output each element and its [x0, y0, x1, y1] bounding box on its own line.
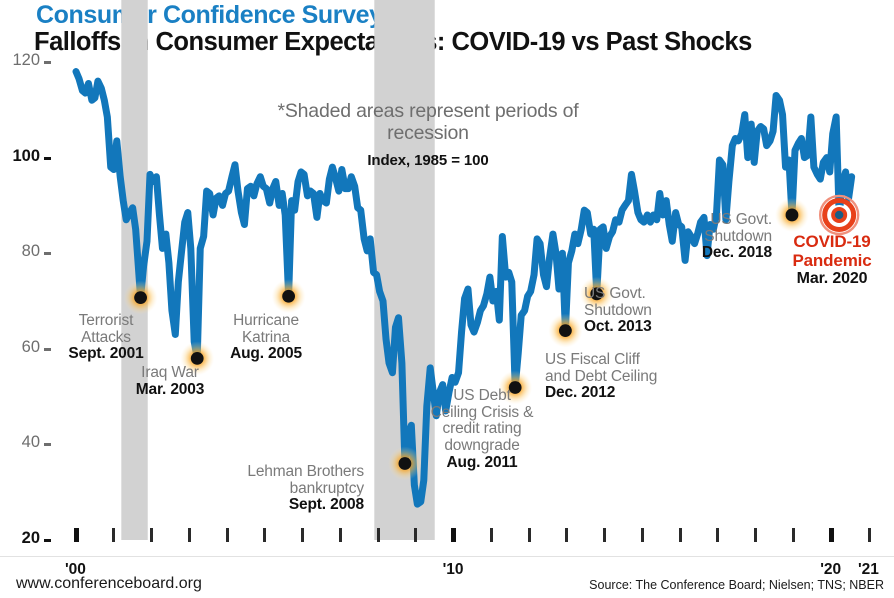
- x-axis-tick: [451, 528, 456, 542]
- y-axis-label: 60: [0, 338, 40, 357]
- annotation-iraq-war: Iraq WarMar. 2003: [110, 365, 230, 398]
- marker-us-fiscal-cliff: [548, 314, 582, 348]
- annotation-date: Sept. 2008: [212, 497, 364, 514]
- x-axis-tick: [716, 528, 719, 542]
- x-axis-label: '21: [858, 561, 879, 579]
- annotation-label: Lehman Brothers bankruptcy: [247, 463, 364, 497]
- marker-us-govt-shutdown-2018: [775, 198, 809, 232]
- x-axis-tick: [565, 528, 568, 542]
- source-note: Source: The Conference Board; Nielsen; T…: [589, 578, 884, 592]
- website-link[interactable]: www.conferenceboard.org: [16, 575, 202, 593]
- x-axis-tick: [679, 528, 682, 542]
- x-axis-tick: [74, 528, 79, 542]
- y-axis-label: 100: [0, 147, 40, 166]
- y-axis-tick: [44, 61, 51, 64]
- annotation-label: COVID-19 Pandemic: [792, 232, 871, 270]
- x-axis-tick: [829, 528, 834, 542]
- chart-svg: [0, 0, 894, 560]
- annotation-hurricane-katrina: Hurricane KatrinaAug. 2005: [202, 313, 330, 363]
- annotation-date: Sept. 2001: [46, 346, 166, 363]
- x-axis-tick: [301, 528, 304, 542]
- footer-divider: [0, 556, 894, 557]
- x-axis-tick: [112, 528, 115, 542]
- y-axis-tick: [44, 539, 51, 542]
- marker-covid-19-pandemic: [820, 196, 858, 234]
- index-note: Index, 1985 = 100: [268, 152, 588, 169]
- x-axis-label: '20: [820, 561, 841, 579]
- x-axis-tick: [188, 528, 191, 542]
- x-axis-tick: [263, 528, 266, 542]
- y-axis-label: 40: [0, 433, 40, 452]
- y-axis-label: 120: [0, 51, 40, 70]
- x-axis-tick: [150, 528, 153, 542]
- annotation-date: Mar. 2020: [778, 270, 886, 288]
- x-axis-tick: [490, 528, 493, 542]
- annotation-label: Terrorist Attacks: [79, 312, 134, 346]
- annotation-label: US Govt. Shutdown: [584, 285, 652, 319]
- x-axis-tick: [754, 528, 757, 542]
- x-axis-tick: [414, 528, 417, 542]
- chart-plot-area: 20406080100120'00'10'20'21 Terrorist Att…: [0, 0, 894, 560]
- annotation-date: Mar. 2003: [110, 382, 230, 399]
- annotation-date: Dec. 2012: [545, 385, 705, 402]
- x-axis-tick: [603, 528, 606, 542]
- annotation-terrorist-attacks: Terrorist AttacksSept. 2001: [46, 313, 166, 363]
- y-axis-label: 80: [0, 242, 40, 261]
- x-axis-tick: [792, 528, 795, 542]
- y-axis-tick: [44, 443, 51, 446]
- x-axis-tick: [641, 528, 644, 542]
- annotation-date: Aug. 2005: [202, 346, 330, 363]
- annotation-covid-19-pandemic: COVID-19 PandemicMar. 2020: [778, 233, 886, 288]
- annotation-us-fiscal-cliff: US Fiscal Cliff and Debt CeilingDec. 201…: [545, 352, 705, 402]
- annotation-label: US Fiscal Cliff and Debt Ceiling: [545, 351, 657, 385]
- marker-terrorist-attacks: [124, 281, 158, 315]
- annotation-label: Iraq War: [141, 364, 199, 381]
- annotation-date: Oct. 2013: [584, 319, 704, 336]
- annotation-lehman-brothers: Lehman Brothers bankruptcySept. 2008: [212, 464, 364, 514]
- annotation-us-govt-shutdown-2018: US Govt. ShutdownDec. 2018: [660, 212, 772, 262]
- annotation-date: Aug. 2011: [412, 455, 552, 472]
- x-axis-tick: [528, 528, 531, 542]
- recession-note: *Shaded areas represent periods of reces…: [268, 101, 588, 145]
- y-axis-tick: [44, 252, 51, 255]
- chart-page: Consumer Confidence Survey® Falloffs in …: [0, 0, 894, 598]
- x-axis-tick: [226, 528, 229, 542]
- x-axis-tick: [339, 528, 342, 542]
- annotation-label: US Debt Ceiling Crisis & credit rating d…: [431, 387, 534, 454]
- annotation-us-govt-shutdown-2013: US Govt. ShutdownOct. 2013: [584, 286, 704, 336]
- annotation-label: US Govt. Shutdown: [704, 211, 772, 245]
- annotation-us-debt-ceiling-crisis: US Debt Ceiling Crisis & credit rating d…: [412, 388, 552, 472]
- annotation-label: Hurricane Katrina: [233, 312, 299, 346]
- annotation-date: Dec. 2018: [660, 245, 772, 262]
- marker-hurricane-katrina: [272, 279, 306, 313]
- x-axis-tick: [377, 528, 380, 542]
- y-axis-label: 20: [0, 529, 40, 548]
- x-axis-tick: [868, 528, 871, 542]
- y-axis-tick: [44, 157, 51, 160]
- x-axis-label: '10: [443, 561, 464, 579]
